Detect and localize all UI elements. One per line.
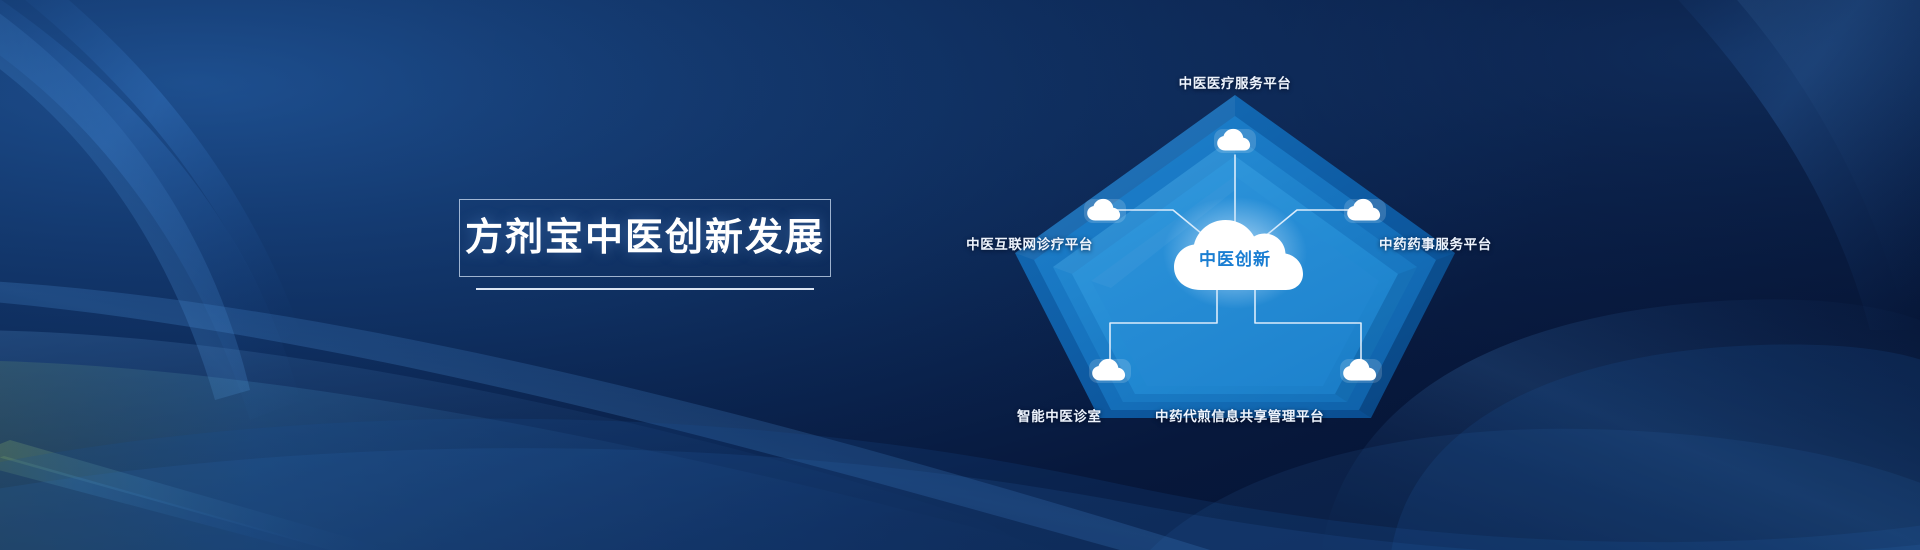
headline-frame: 方剂宝中医创新发展 [459,199,831,277]
node-icon-bottom-right[interactable] [1340,359,1382,383]
platform-architecture-diagram: 中医医疗服务平台 中医互联网诊疗平台 中药药事服务平台 智能中医诊室 中药代煎信… [955,40,1515,440]
center-node-label: 中医创新 [955,245,1515,270]
node-icon-bottom-left[interactable] [1089,359,1131,383]
node-icon-top[interactable] [1214,129,1256,153]
promo-banner: 方剂宝中医创新发展 [0,0,1920,550]
node-label-bottom-right: 中药代煎信息共享管理平台 [1155,405,1324,425]
node-label-top: 中医医疗服务平台 [955,72,1515,92]
headline-block: 方剂宝中医创新发展 [459,199,831,290]
page-title: 方剂宝中医创新发展 [465,219,825,257]
headline-underline [476,288,814,290]
node-icon-right[interactable] [1344,199,1386,223]
node-icon-left[interactable] [1084,199,1126,223]
node-label-bottom-left: 智能中医诊室 [1017,405,1102,425]
